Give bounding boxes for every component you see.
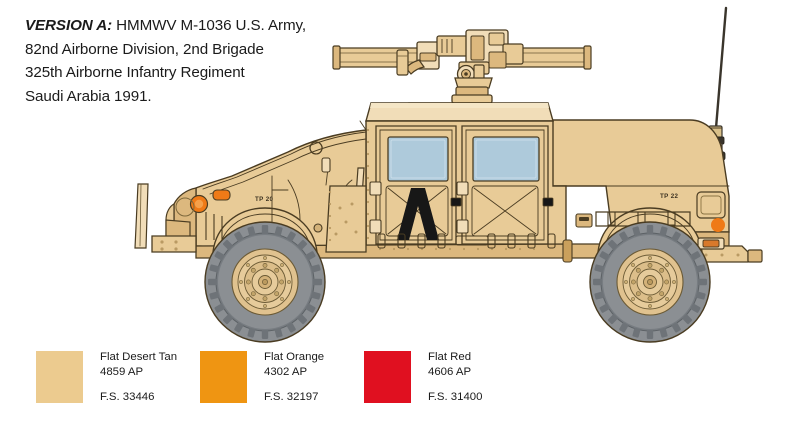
sill-louvres <box>378 234 555 248</box>
front-wheel <box>205 222 325 342</box>
rear-wheel-hub <box>617 249 683 315</box>
front-tyre-tread <box>208 225 322 339</box>
version-label: VERSION A: <box>25 17 112 34</box>
legend-code-0: 4859 AP <box>100 365 210 380</box>
legend-code-1: 4302 AP <box>264 365 374 380</box>
paint-color-legend: Flat Desert Tan 4859 AP F.S. 33446 Flat … <box>36 350 776 410</box>
door-hinges <box>370 182 468 233</box>
rear-stencil-code: TP 22 <box>660 193 679 200</box>
legend-fs-2: F.S. 31400 <box>428 390 482 404</box>
rear-tyre-tread <box>593 225 707 339</box>
legend-text-2: Flat Red 4606 AP <box>428 350 538 379</box>
wheel-arches <box>213 208 702 252</box>
legend-chip-1 <box>200 351 247 403</box>
cowl-panel <box>326 186 366 252</box>
rear-body-details <box>563 186 740 262</box>
rear-door-handle <box>543 198 553 206</box>
sill-step-plate <box>456 236 488 245</box>
caption-line-2: 82nd Airborne Division, 2nd Brigade <box>25 38 445 62</box>
legend-fs-1: F.S. 32197 <box>264 390 318 404</box>
legend-code-2: 4606 AP <box>428 365 538 380</box>
front-stencil-code: TP 20 <box>255 196 274 203</box>
legend-name-0: Flat Desert Tan <box>100 350 210 365</box>
headlamp <box>191 196 208 213</box>
rear-wheel <box>590 222 710 342</box>
radio-antenna <box>706 8 726 160</box>
caption-line-3: 325th Airborne Infantry Regiment <box>25 61 445 85</box>
legend-chip-0 <box>36 351 83 403</box>
rear-marker-lamp <box>711 218 725 232</box>
body-rivet-rows <box>329 129 535 250</box>
cab-doors-and-windows <box>360 121 553 252</box>
legend-chip-2 <box>364 351 411 403</box>
rear-tail-lamp <box>703 240 719 247</box>
blackout-marker-lamp <box>213 190 230 200</box>
caption-line-1: VERSION A: HMMWV M-1036 U.S. Army, <box>25 14 445 38</box>
hood-and-front-details <box>135 142 364 252</box>
legend-name-2: Flat Red <box>428 350 538 365</box>
caption-line-4: Saudi Arabia 1991. <box>25 85 445 109</box>
front-wheel-hub <box>232 249 298 315</box>
legend-text-1: Flat Orange 4302 AP <box>264 350 374 379</box>
hmmwv-body <box>166 103 762 262</box>
legend-text-0: Flat Desert Tan 4859 AP <box>100 350 210 379</box>
front-door-handle <box>451 198 461 206</box>
legend-fs-0: F.S. 33446 <box>100 390 154 404</box>
caption-line-1-rest: HMMWV M-1036 U.S. Army, <box>112 17 306 34</box>
version-caption: VERSION A: HMMWV M-1036 U.S. Army, 82nd … <box>25 14 445 108</box>
inverted-v-insignia <box>397 188 439 240</box>
legend-name-1: Flat Orange <box>264 350 374 365</box>
